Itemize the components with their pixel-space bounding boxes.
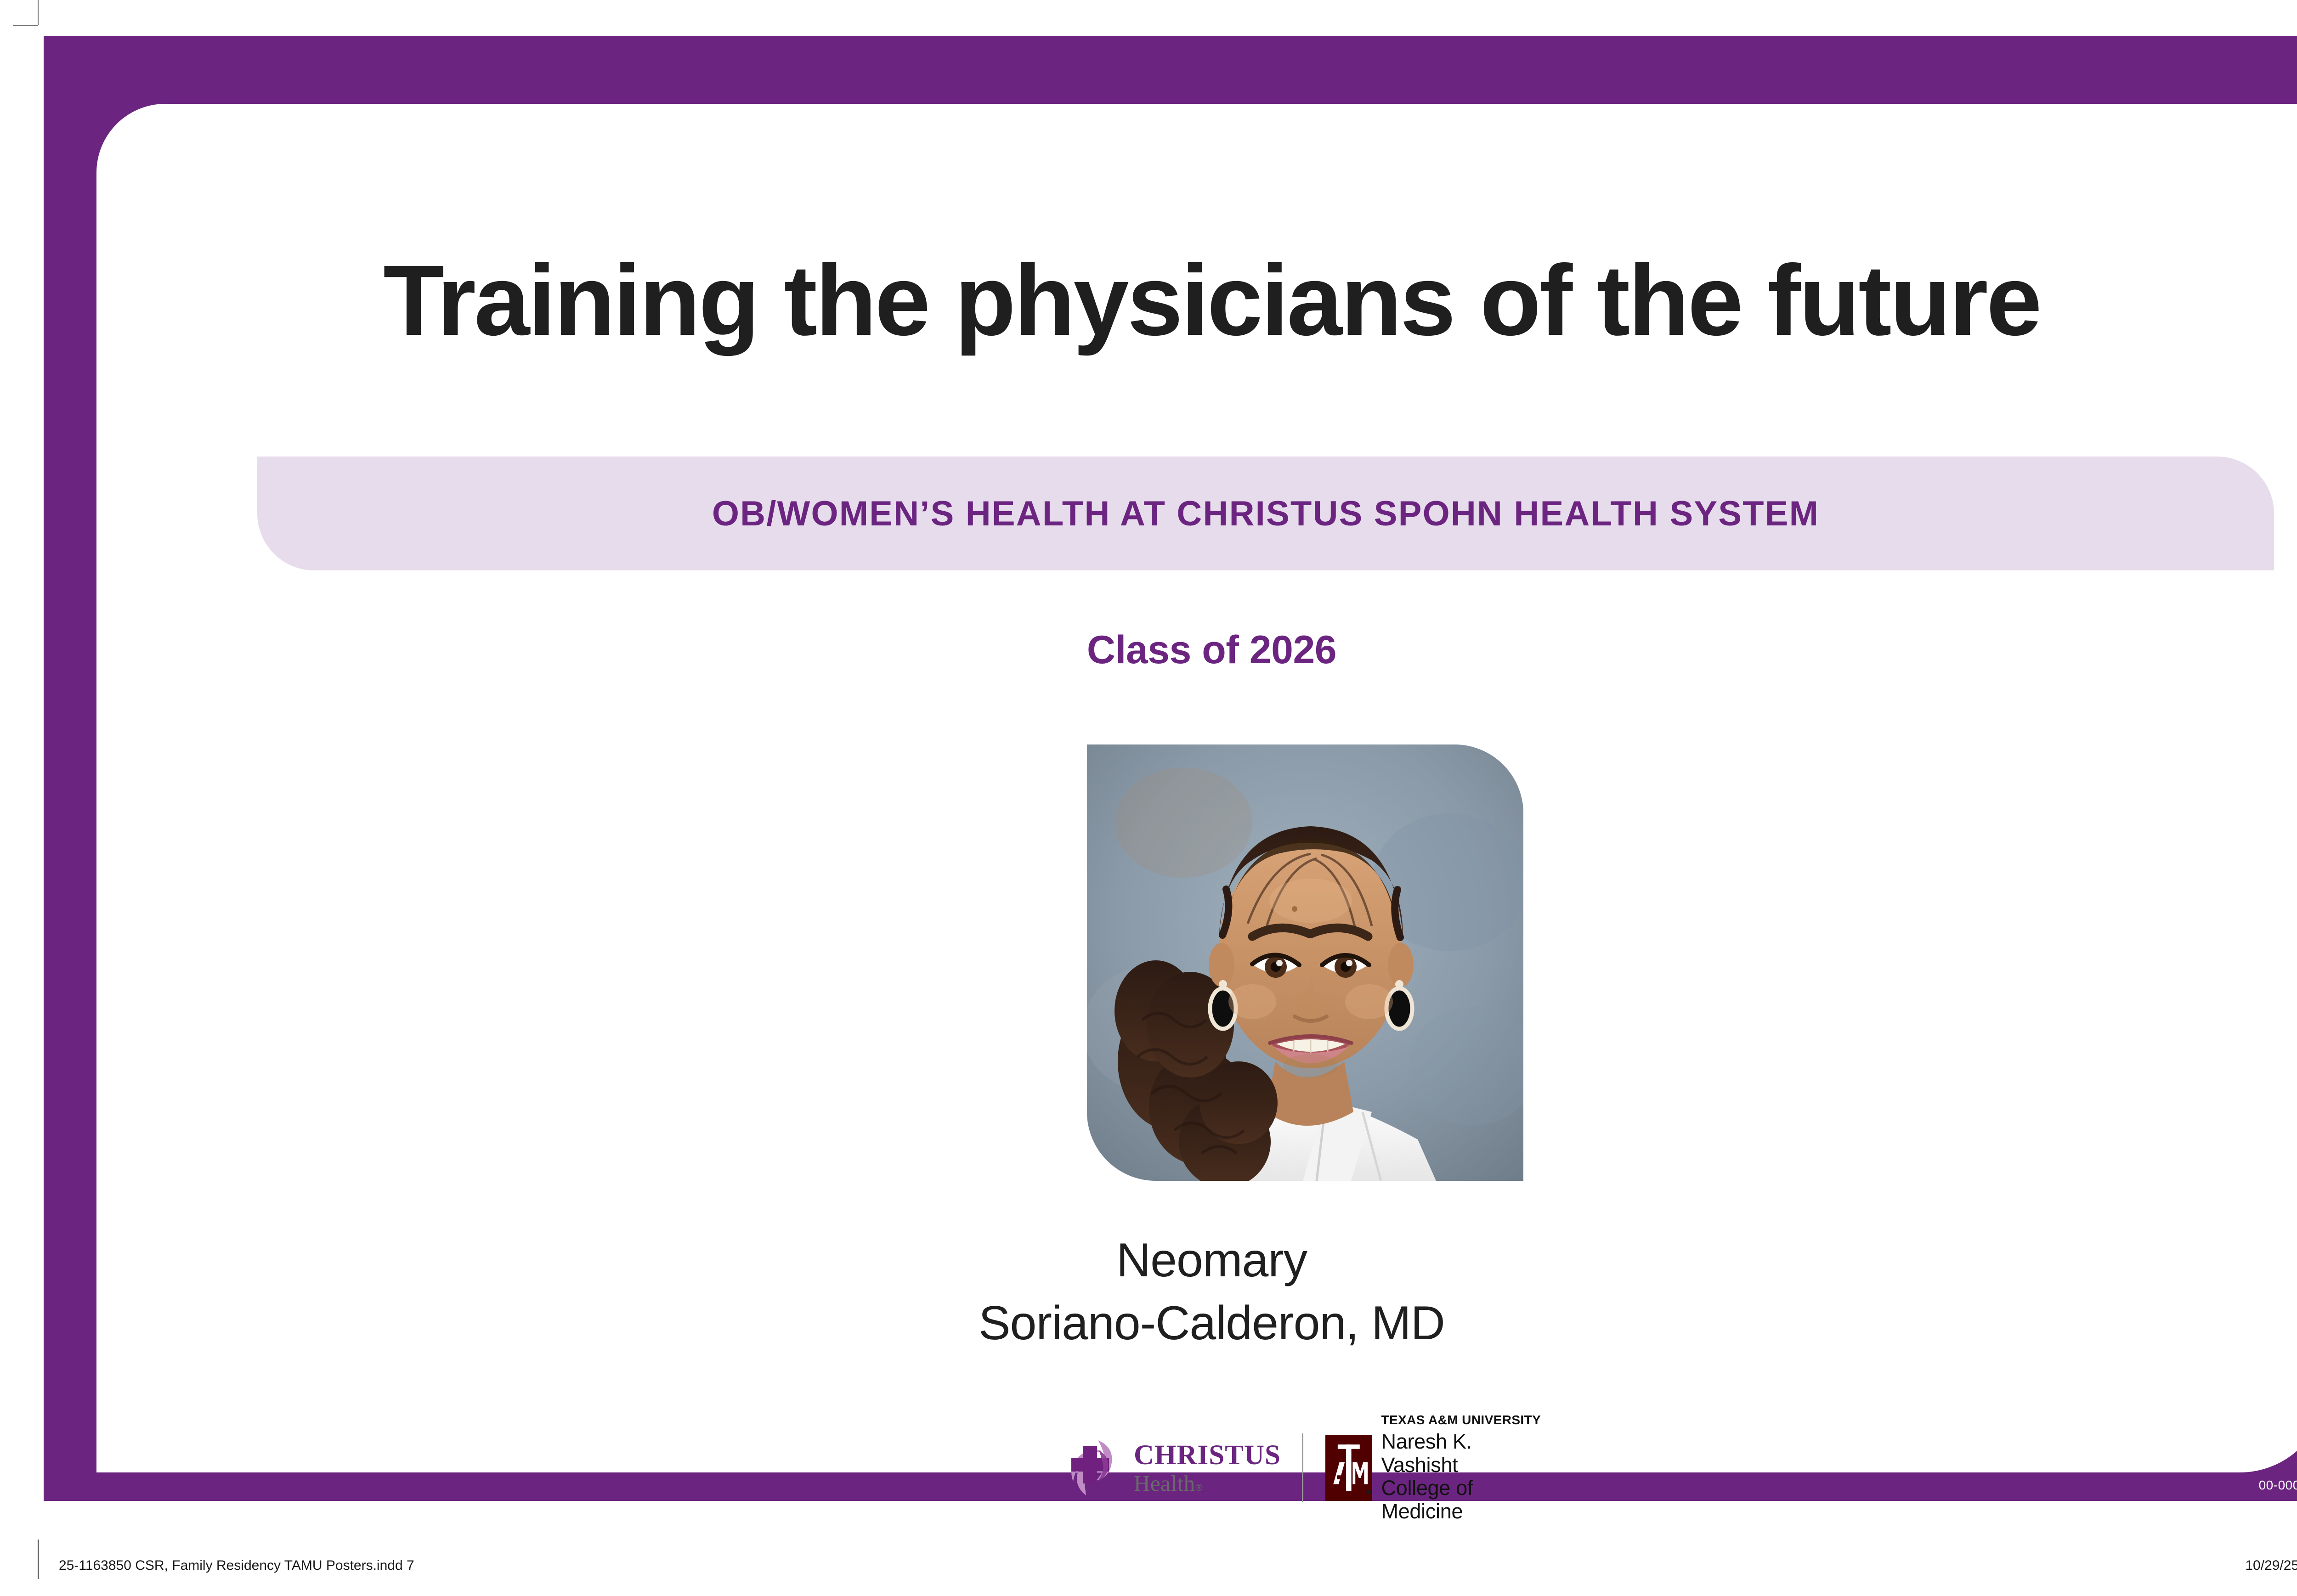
texas-am-college-of-medicine-logo: TEXAS A&M UNIVERSITY Naresh K. Vashisht … xyxy=(1303,1413,1553,1523)
logo-lockup: CHRISTUS Health® xyxy=(1066,1427,1553,1509)
christus-cross-icon xyxy=(1066,1438,1124,1498)
texas-am-wordmark: TEXAS A&M UNIVERSITY Naresh K. Vashisht … xyxy=(1381,1413,1553,1523)
christus-wordmark: CHRISTUS Health® xyxy=(1134,1441,1281,1494)
footer-timestamp: 10/29/25 11:39 AM xyxy=(2245,1558,2297,1573)
resident-headshot-image xyxy=(1087,744,1523,1181)
footer-rule-left xyxy=(38,1540,39,1579)
class-year-label: Class of 2026 xyxy=(96,627,2297,673)
program-banner-label: OB/WOMEN’S HEALTH AT CHRISTUS SPOHN HEAL… xyxy=(712,494,1819,534)
program-banner: OB/WOMEN’S HEALTH AT CHRISTUS SPOHN HEAL… xyxy=(257,457,2274,570)
crop-mark-top-left-horizontal xyxy=(13,25,38,26)
christus-name: CHRISTUS xyxy=(1134,1441,1281,1469)
registered-mark: ® xyxy=(1195,1482,1203,1493)
college-donor-name: Naresh K. Vashisht xyxy=(1381,1430,1553,1477)
poster-purple-frame: Training the physicians of the future OB… xyxy=(44,36,2297,1501)
resident-first-name: Neomary xyxy=(96,1229,2297,1292)
print-sheet: Training the physicians of the future OB… xyxy=(0,0,2297,1596)
resident-photo xyxy=(1087,744,1523,1181)
poster-white-card: Training the physicians of the future OB… xyxy=(96,104,2297,1472)
page-footer: 25-1163850 CSR, Family Residency TAMU Po… xyxy=(0,1552,2297,1585)
texas-am-atm-icon xyxy=(1325,1433,1372,1502)
texas-am-university-label: TEXAS A&M UNIVERSITY xyxy=(1381,1413,1553,1427)
christus-health-logo: CHRISTUS Health® xyxy=(1066,1438,1302,1498)
crop-mark-top-left-vertical xyxy=(38,0,39,25)
christus-health-word: Health® xyxy=(1134,1472,1281,1494)
page-title: Training the physicians of the future xyxy=(96,248,2297,354)
college-of-medicine-label: College of Medicine xyxy=(1381,1477,1553,1523)
job-code: 00-000000 xyxy=(2259,1478,2297,1493)
footer-filename: 25-1163850 CSR, Family Residency TAMU Po… xyxy=(59,1558,414,1573)
resident-last-name: Soriano-Calderon, MD xyxy=(96,1292,2297,1355)
resident-name: Neomary Soriano-Calderon, MD xyxy=(96,1229,2297,1355)
